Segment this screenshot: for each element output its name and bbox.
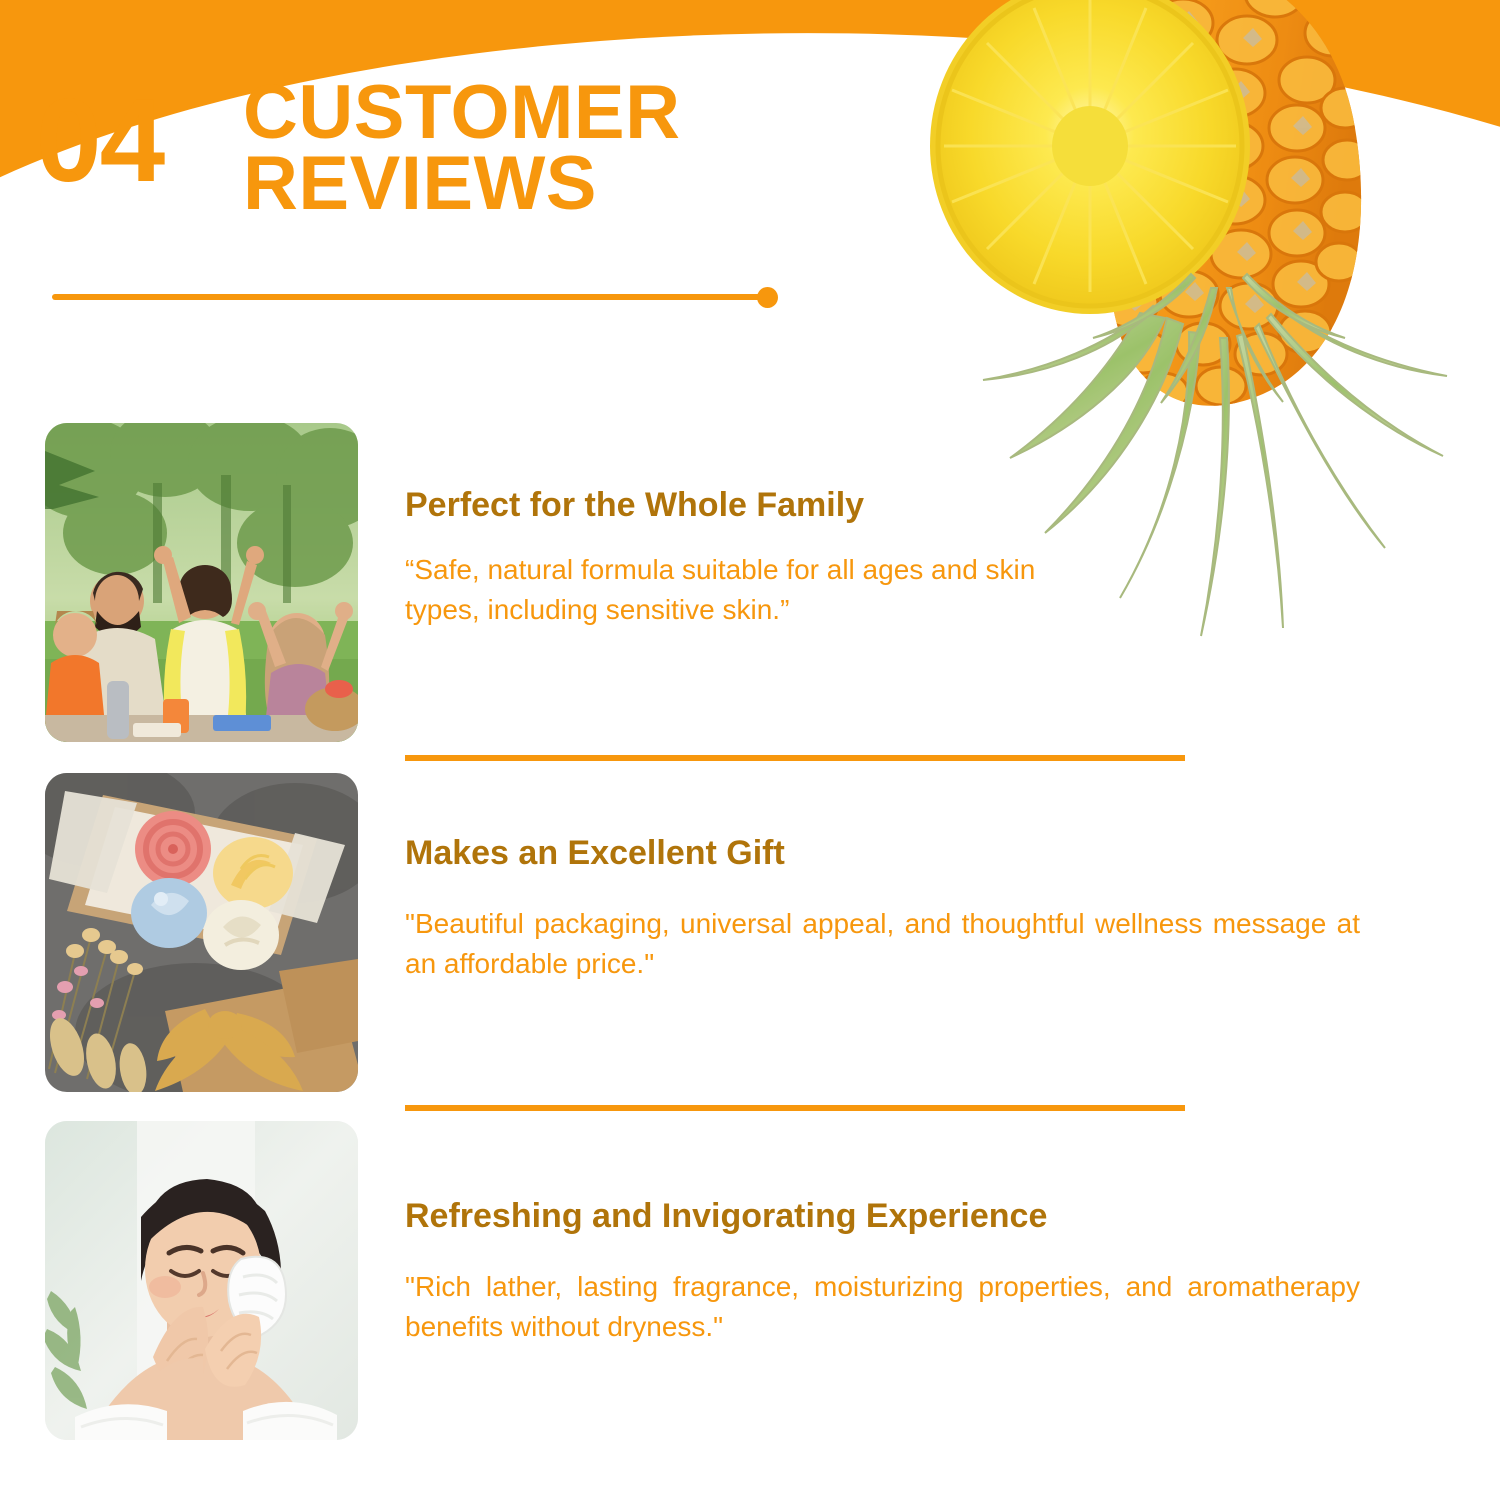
review-title: Refreshing and Invigorating Experience	[405, 1196, 1360, 1237]
review-quote: “Safe, natural formula suitable for all …	[405, 550, 1105, 631]
header-rule-dot-icon	[757, 287, 778, 308]
review-title: Perfect for the Whole Family	[405, 485, 1360, 526]
review-quote: "Rich lather, lasting fragrance, moistur…	[405, 1267, 1360, 1348]
section-divider	[405, 1105, 1185, 1111]
page-title-line1: CUSTOMER	[243, 78, 943, 149]
woman-skincare-photo-icon	[45, 1121, 358, 1440]
family-picnic-photo-icon	[45, 423, 358, 742]
header-rule	[52, 294, 762, 300]
review-copy: Makes an Excellent Gift "Beautiful packa…	[405, 833, 1360, 985]
review-quote: "Beautiful packaging, universal appeal, …	[405, 904, 1360, 985]
section-number: 04	[36, 82, 163, 200]
section-header: 04 CUSTOMER REVIEWS	[0, 0, 940, 330]
review-copy: Refreshing and Invigorating Experience "…	[405, 1196, 1360, 1348]
slide-root: 04 CUSTOMER REVIEWS	[0, 0, 1500, 1500]
review-title: Makes an Excellent Gift	[405, 833, 1360, 874]
page-title: CUSTOMER REVIEWS	[243, 78, 943, 219]
soap-gift-box-photo-icon	[45, 773, 358, 1092]
section-divider	[405, 755, 1185, 761]
page-title-line2: REVIEWS	[243, 149, 943, 220]
review-copy: Perfect for the Whole Family “Safe, natu…	[405, 485, 1360, 631]
